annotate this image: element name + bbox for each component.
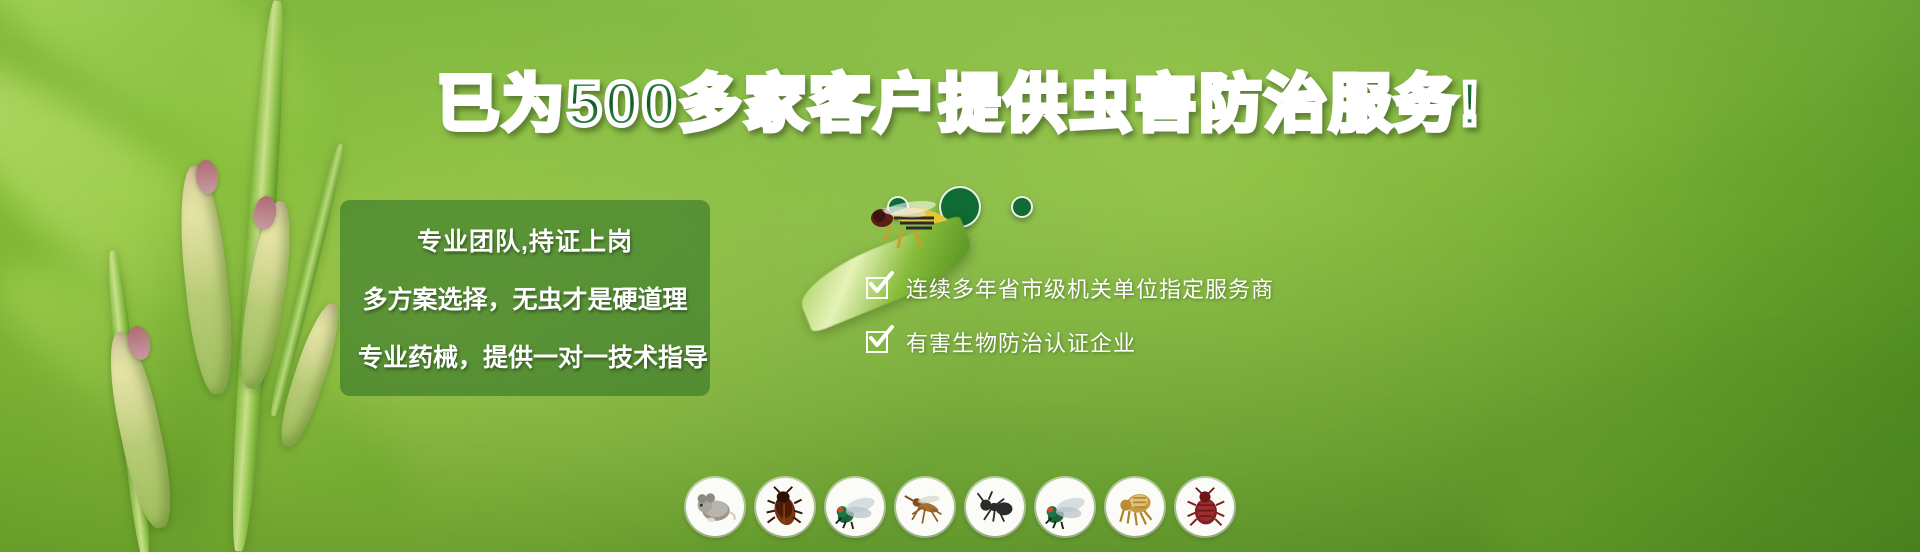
pest-control-banner: 已为500多家客户提供虫害防治服务! 专业团队,持证上岗 多方案选择，无虫才是硬… [0, 0, 1920, 552]
checklist-item: 连续多年省市级机关单位指定服务商 [866, 272, 1274, 304]
ant-icon[interactable] [966, 478, 1024, 536]
bedbug-icon[interactable] [1176, 478, 1234, 536]
slogan-line-2: 多方案选择，无虫才是硬道理 [358, 280, 692, 316]
flea-icon[interactable] [1106, 478, 1164, 536]
checklist-item-label: 有害生物防治认证企业 [906, 326, 1136, 358]
checklist-item: 有害生物防治认证企业 [866, 326, 1274, 358]
mouse-icon[interactable] [686, 478, 744, 536]
fly-icon[interactable] [826, 478, 884, 536]
check-icon [866, 275, 892, 301]
check-icon [866, 329, 892, 355]
mosquito-icon[interactable] [896, 478, 954, 536]
small-dot-icon [1011, 196, 1033, 218]
checklist-item-label: 连续多年省市级机关单位指定服务商 [906, 272, 1274, 304]
slogan-line-1: 专业团队,持证上岗 [358, 222, 692, 258]
cockroach-icon[interactable] [756, 478, 814, 536]
checklist: 连续多年省市级机关单位指定服务商 有害生物防治认证企业 [866, 272, 1274, 380]
slogan-line-3: 专业药械，提供一对一技术指导 [358, 338, 692, 374]
hoverfly-icon [860, 196, 952, 252]
page-title: 已为500多家客户提供虫害防治服务! [0, 74, 1920, 136]
blowfly-icon[interactable] [1036, 478, 1094, 536]
pest-icon-strip [0, 478, 1920, 536]
slogan-panel: 专业团队,持证上岗 多方案选择，无虫才是硬道理 专业药械，提供一对一技术指导 [340, 200, 710, 396]
